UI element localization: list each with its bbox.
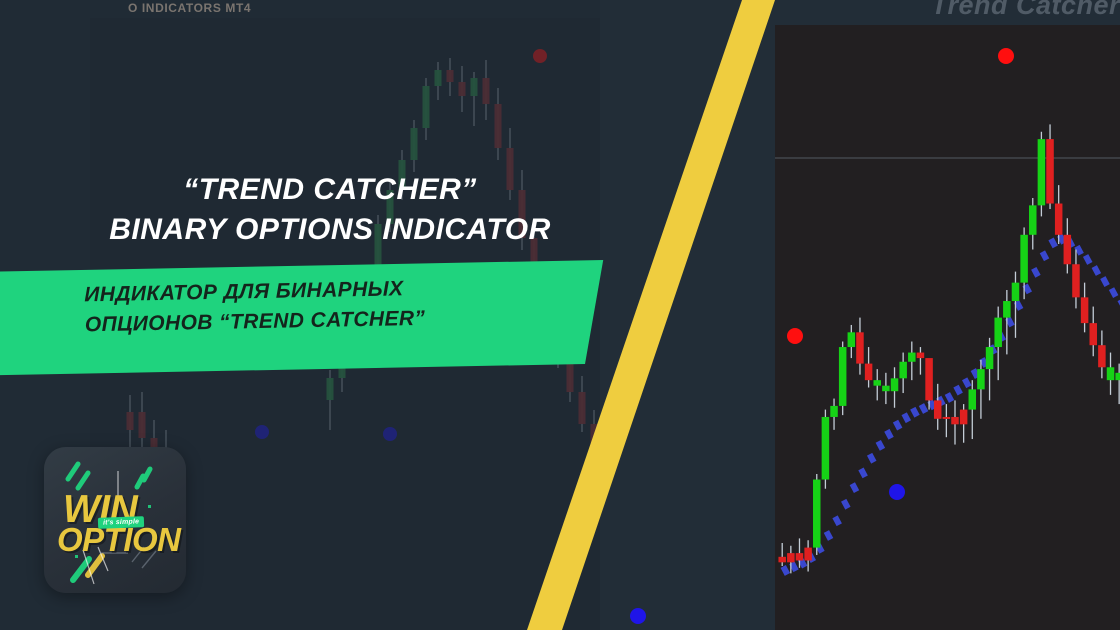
green-subtitle-text-block: ИНДИКАТОР ДЛЯ БИНАРНЫХ ОПЦИОНОВ “TREND C… [0, 270, 601, 341]
featured-candle-group [778, 124, 1120, 573]
featured-chart-panel: Trend Catcher [600, 0, 1120, 630]
logo-tagline-badge: it's simple [98, 516, 145, 529]
headline-block: “TREND CATCHER” BINARY OPTIONS INDICATOR [0, 170, 660, 250]
featured-trend-line [781, 234, 1120, 576]
trend-catcher-watermark: Trend Catcher [931, 0, 1120, 21]
headline-line-2: BINARY OPTIONS INDICATOR [0, 210, 660, 250]
featured-signal-group [630, 48, 1014, 624]
headline-line-1: “TREND CATCHER” [0, 170, 660, 210]
promo-banner-image: O INDICATORS MT4 Trend Catcher “TREND CA… [0, 0, 1120, 630]
mt4-header-label: O INDICATORS MT4 [128, 1, 251, 15]
winoption-logo[interactable]: WIN OPTION it's simple [44, 447, 186, 593]
featured-chart-svg [600, 0, 1120, 630]
